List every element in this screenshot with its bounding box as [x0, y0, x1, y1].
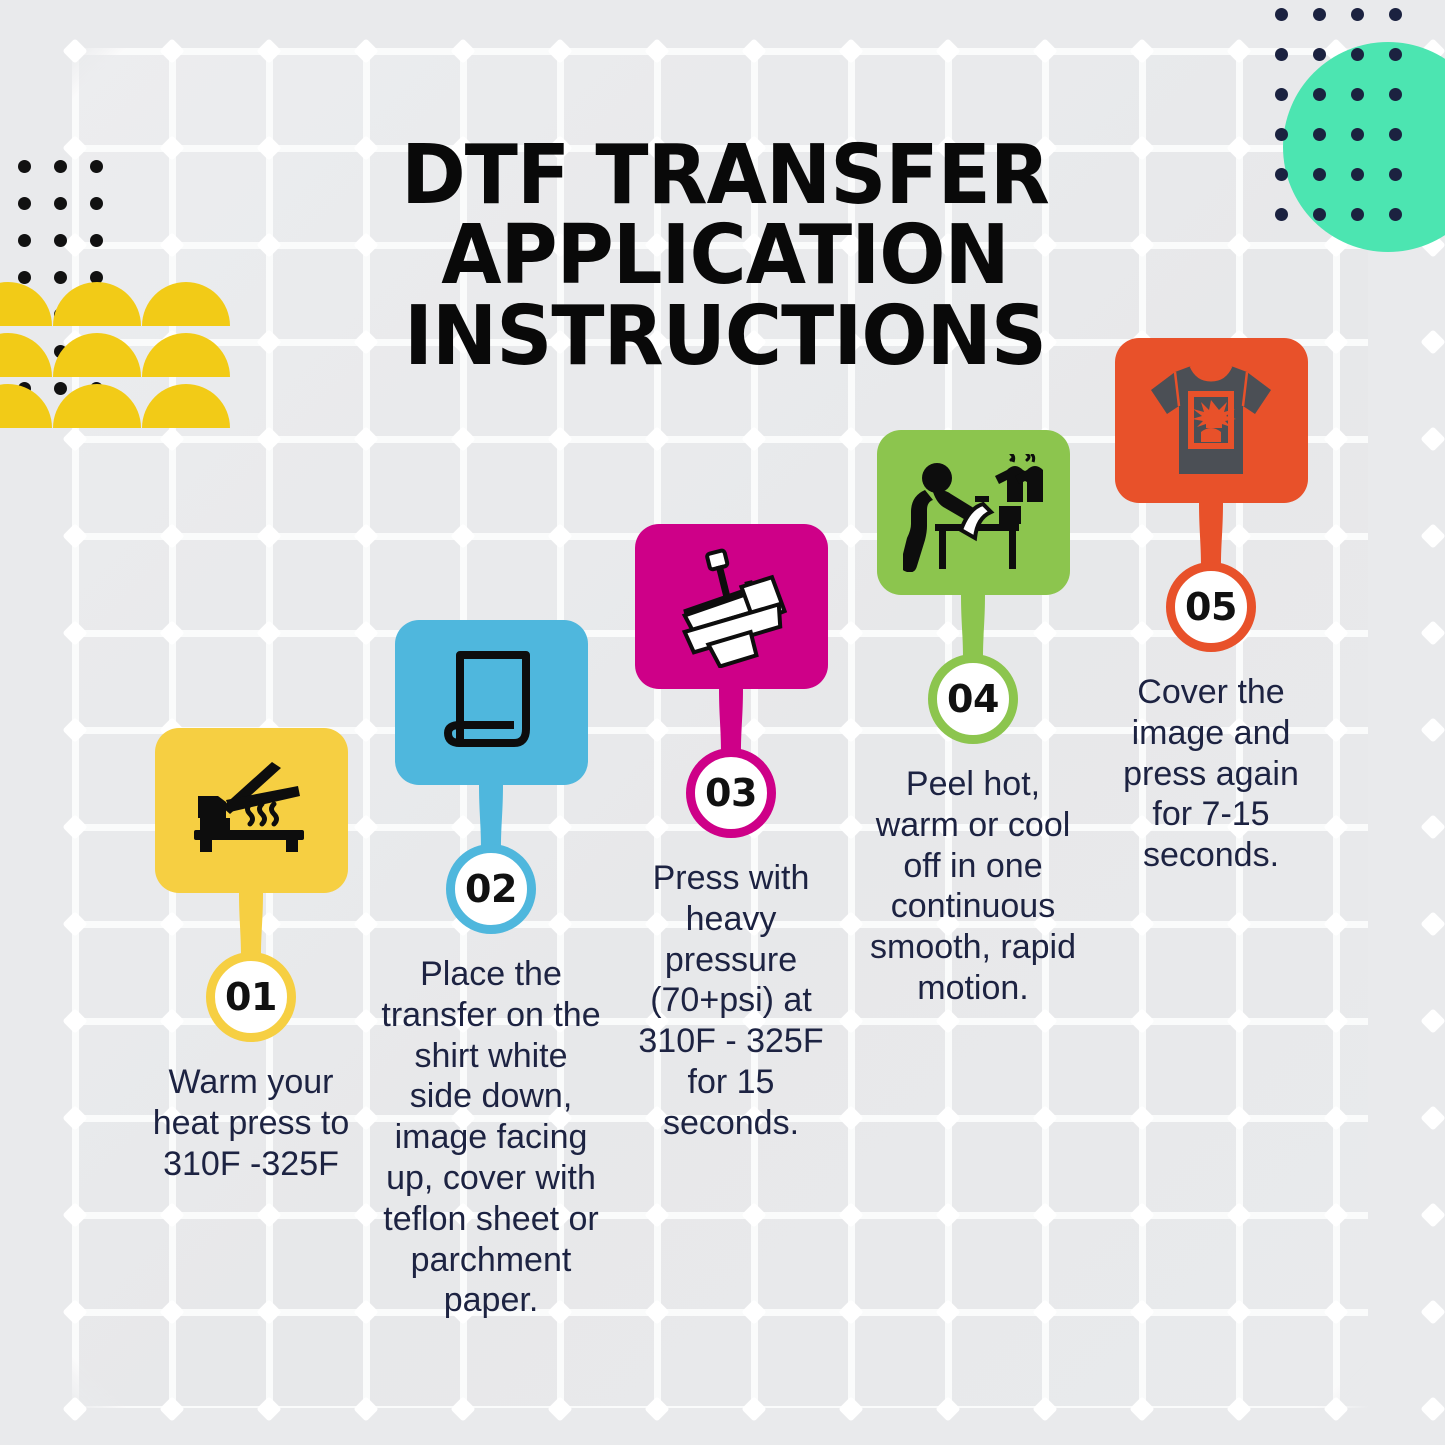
step-description-01: Warm your heat press to 310F -325F	[132, 1062, 370, 1184]
step-icon-card-03[interactable]	[635, 524, 828, 689]
step-number-label: 01	[225, 975, 277, 1019]
heat-press-machine-icon	[666, 546, 796, 668]
step-number-label: 04	[947, 677, 999, 721]
step-connector-stem	[239, 892, 263, 956]
step-description-03: Press with heavy pressure (70+psi) at 31…	[612, 858, 850, 1144]
step-number-badge-05[interactable]: 05	[1166, 562, 1256, 652]
step-02[interactable]: 02Place the transfer on the shirt white …	[372, 620, 610, 1321]
transfer-sheet-icon	[438, 647, 544, 759]
step-connector-stem	[719, 688, 743, 752]
person-peeling-transfer-icon	[903, 454, 1043, 572]
step-icon-card-04[interactable]	[877, 430, 1070, 595]
poster-canvas: DTF TRANSFER APPLICATION INSTRUCTIONS 01…	[0, 0, 1445, 1445]
step-01[interactable]: 01Warm your heat press to 310F -325F	[132, 728, 370, 1184]
printed-tshirt-icon	[1145, 360, 1277, 482]
step-number-label: 05	[1185, 585, 1237, 629]
heat-press-open-icon	[186, 756, 316, 866]
step-description-04: Peel hot, warm or cool off in one contin…	[854, 764, 1092, 1009]
step-03[interactable]: 03Press with heavy pressure (70+psi) at …	[612, 524, 850, 1144]
step-icon-card-02[interactable]	[395, 620, 588, 785]
step-description-02: Place the transfer on the shirt white si…	[372, 954, 610, 1321]
step-icon-card-05[interactable]	[1115, 338, 1308, 503]
step-number-badge-04[interactable]: 04	[928, 654, 1018, 744]
step-number-badge-01[interactable]: 01	[206, 952, 296, 1042]
step-description-05: Cover the image and press again for 7-15…	[1092, 672, 1330, 876]
steps-container: 01Warm your heat press to 310F -325F 02P…	[0, 0, 1445, 1445]
step-number-badge-03[interactable]: 03	[686, 748, 776, 838]
step-04[interactable]: 04Peel hot, warm or cool off in one cont…	[854, 430, 1092, 1009]
step-connector-stem	[1199, 502, 1223, 566]
step-number-label: 03	[705, 771, 757, 815]
step-number-label: 02	[465, 867, 517, 911]
step-05[interactable]: 05Cover the image and press again for 7-…	[1092, 338, 1330, 876]
step-number-badge-02[interactable]: 02	[446, 844, 536, 934]
step-connector-stem	[479, 784, 503, 848]
step-icon-card-01[interactable]	[155, 728, 348, 893]
step-connector-stem	[961, 594, 985, 658]
